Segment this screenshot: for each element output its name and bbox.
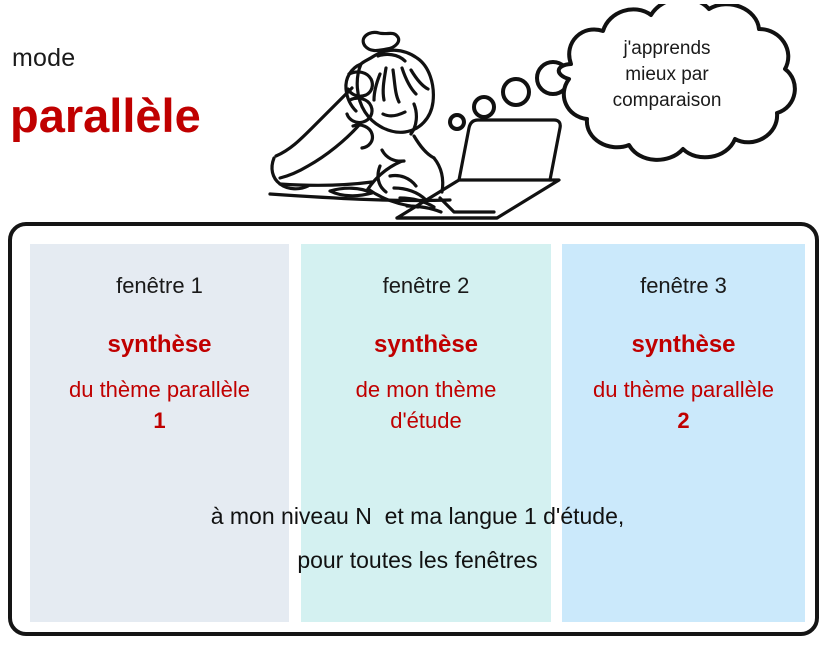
synthese-heading-1: synthèse [30,330,289,360]
panel-footer-note-line-2: pour toutes les fenêtres [30,538,805,582]
window-description-2-line-2: d'étude [301,405,551,436]
mode-label: mode [12,44,75,73]
window-description-2-line-1: de mon thème [301,374,551,405]
window-description-2: de mon thème d'étude [301,374,551,436]
panel-footer-note-line-1: à mon niveau N et ma langue 1 d'étude, [30,494,805,538]
window-label-3: fenêtre 3 [562,272,805,300]
thought-bubble: j'apprends mieux par comparaison [448,4,829,174]
windows-panel: fenêtre 1 synthèse du thème parallèle 1 … [8,222,819,636]
thought-bubble-line-1: j'apprends [572,36,762,62]
window-description-3-line-1: du thème parallèle [562,374,805,405]
thought-dot-2 [474,97,494,117]
window-label-1: fenêtre 1 [30,272,289,300]
thought-bubble-text: j'apprends mieux par comparaison [572,36,762,114]
mode-title: parallèle [10,88,201,143]
thought-dot-1 [450,115,464,129]
thought-bubble-line-2: mieux par [572,62,762,88]
panel-footer-note: à mon niveau N et ma langue 1 d'étude, p… [30,494,805,582]
synthese-heading-3: synthèse [562,330,805,360]
window-description-1-line-1: du thème parallèle [30,374,289,405]
window-description-1-line-2: 1 [30,405,289,436]
window-label-2: fenêtre 2 [301,272,551,300]
window-description-1: du thème parallèle 1 [30,374,289,436]
window-description-3-line-2: 2 [562,405,805,436]
thought-bubble-line-3: comparaison [572,88,762,114]
synthese-heading-2: synthèse [301,330,551,360]
slide-canvas: mode parallèle [0,0,829,646]
window-description-3: du thème parallèle 2 [562,374,805,436]
thought-dot-3 [503,79,529,105]
